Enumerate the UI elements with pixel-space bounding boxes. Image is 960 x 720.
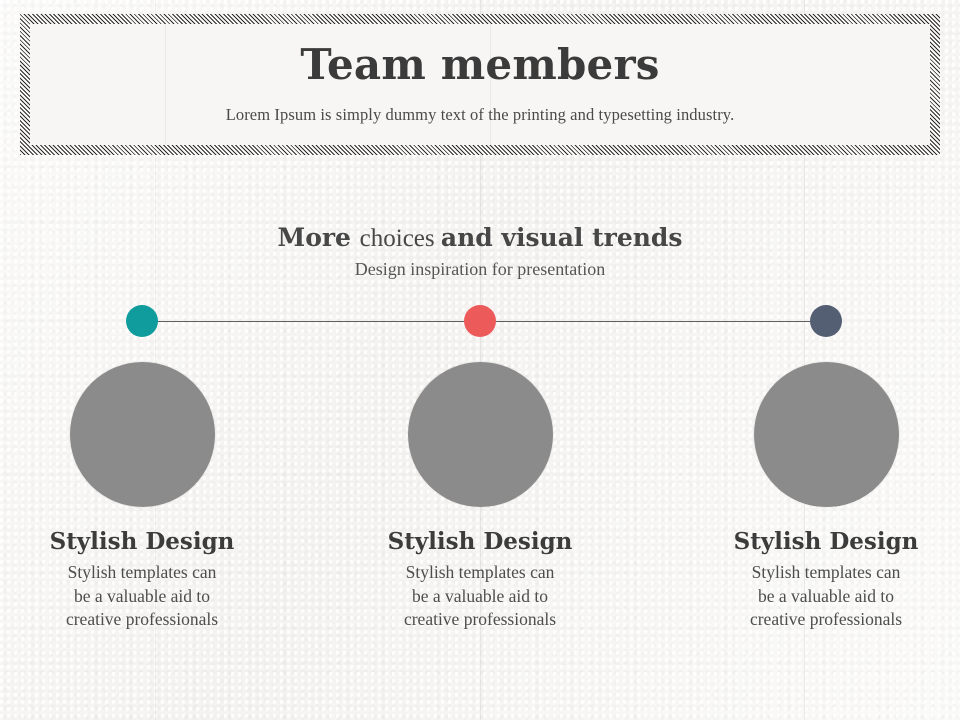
member-title-2: Stylish Design [335, 529, 625, 554]
slide-canvas: Team members Lorem Ipsum is simply dummy… [0, 0, 960, 720]
page-subtitle: Lorem Ipsum is simply dummy text of the … [226, 105, 735, 125]
member-desc-line-3: creative professionals [0, 608, 287, 631]
team-member-card-2[interactable]: Stylish Design Stylish templates can be … [335, 362, 625, 631]
section-heading-part-3: and visual trends [441, 223, 683, 252]
member-desc-line-1: Stylish templates can [0, 561, 287, 584]
member-desc-line-2: be a valuable aid to [335, 585, 625, 608]
member-title-3: Stylish Design [681, 529, 960, 554]
section-heading-part-1: More [278, 223, 360, 252]
member-desc-line-1: Stylish templates can [335, 561, 625, 584]
header-panel: Team members Lorem Ipsum is simply dummy… [30, 24, 930, 145]
section-heading-part-2: choices [360, 225, 441, 252]
team-member-card-1[interactable]: Stylish Design Stylish templates can be … [0, 362, 287, 631]
member-description-3: Stylish templates can be a valuable aid … [681, 561, 960, 631]
member-desc-line-3: creative professionals [335, 608, 625, 631]
page-title: Team members [300, 44, 659, 86]
member-desc-line-2: be a valuable aid to [681, 585, 960, 608]
member-desc-line-2: be a valuable aid to [0, 585, 287, 608]
member-description-1: Stylish templates can be a valuable aid … [0, 561, 287, 631]
section-heading: More choices and visual trends [0, 224, 960, 254]
member-title-1: Stylish Design [0, 529, 287, 554]
avatar-1 [70, 362, 215, 507]
avatar-3 [754, 362, 899, 507]
timeline-dot-3[interactable] [810, 305, 842, 337]
member-desc-line-1: Stylish templates can [681, 561, 960, 584]
timeline-dot-2[interactable] [464, 305, 496, 337]
member-desc-line-3: creative professionals [681, 608, 960, 631]
avatar-2 [408, 362, 553, 507]
header-hatched-frame: Team members Lorem Ipsum is simply dummy… [20, 14, 940, 155]
member-description-2: Stylish templates can be a valuable aid … [335, 561, 625, 631]
section-subheading: Design inspiration for presentation [0, 259, 960, 280]
timeline-dot-1[interactable] [126, 305, 158, 337]
team-member-card-3[interactable]: Stylish Design Stylish templates can be … [681, 362, 960, 631]
